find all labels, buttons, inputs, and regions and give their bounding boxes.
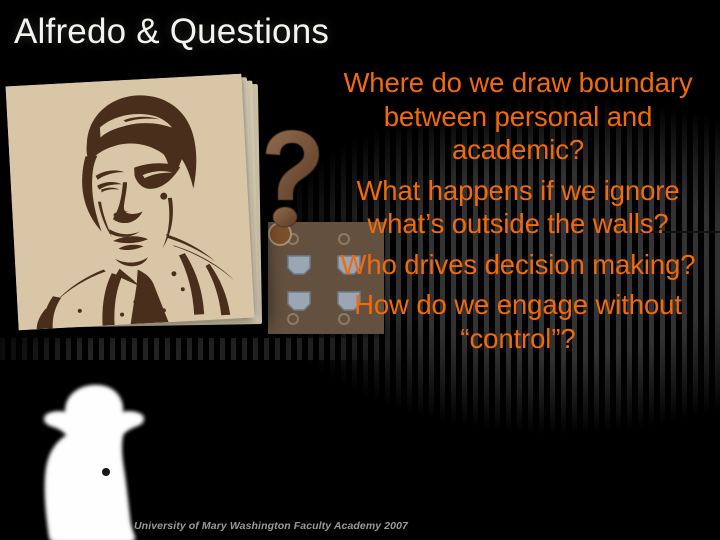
question-item-3: Who drives decision making?: [318, 248, 718, 282]
portrait-card: [8, 72, 266, 334]
question-item-4: How do we engage without “control”?: [318, 288, 718, 355]
question-item-1: Where do we draw boundary between person…: [318, 66, 718, 167]
footer-credit: University of Mary Washington Faculty Ac…: [134, 520, 408, 533]
portrait-card-front: [6, 74, 255, 330]
man-in-bowler-hat-silhouette: [8, 368, 188, 540]
portrait-sketch-icon: [6, 74, 255, 330]
slide-canvas: Alfredo & Questions: [0, 0, 720, 540]
question-item-2: What happens if we ignore what’s outside…: [318, 174, 718, 241]
questions-list: Where do we draw boundary between person…: [318, 66, 718, 355]
page-title: Alfredo & Questions: [14, 12, 329, 52]
